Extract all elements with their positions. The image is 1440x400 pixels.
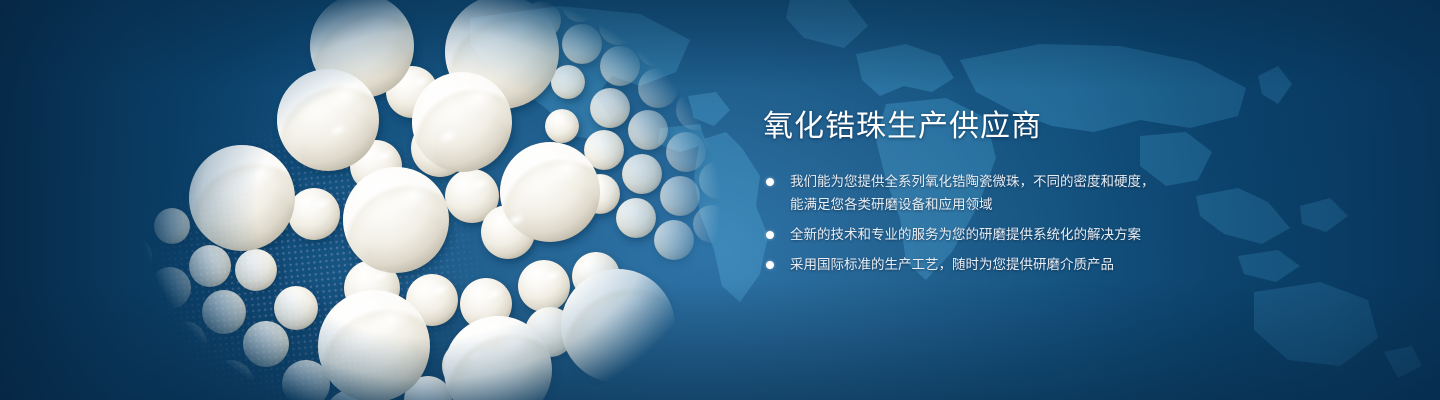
list-item: 全新的技术和专业的服务为您的研磨提供系统化的解决方案	[766, 223, 1283, 246]
banner-copy: 氧化锆珠生产供应商 我们能为您提供全系列氧化锆陶瓷微珠，不同的密度和硬度， 能满…	[763, 108, 1283, 276]
bullet-dot-icon	[766, 261, 774, 269]
hero-banner: 氧化锆珠生产供应商 我们能为您提供全系列氧化锆陶瓷微珠，不同的密度和硬度， 能满…	[0, 0, 1440, 400]
list-item-line: 全新的技术和专业的服务为您的研磨提供系统化的解决方案	[790, 223, 1283, 246]
zirconia-beads-image	[110, 0, 750, 400]
list-item-line: 能满足您各类研磨设备和应用领域	[790, 193, 1283, 216]
list-item-line: 我们能为您提供全系列氧化锆陶瓷微珠，不同的密度和硬度，	[790, 170, 1283, 193]
list-item-line: 采用国际标准的生产工艺，随时为您提供研磨介质产品	[790, 253, 1283, 276]
feature-list: 我们能为您提供全系列氧化锆陶瓷微珠，不同的密度和硬度， 能满足您各类研磨设备和应…	[766, 170, 1283, 276]
bullet-dot-icon	[766, 231, 774, 239]
list-item: 我们能为您提供全系列氧化锆陶瓷微珠，不同的密度和硬度， 能满足您各类研磨设备和应…	[766, 170, 1283, 216]
page-title: 氧化锆珠生产供应商	[763, 108, 1283, 146]
list-item: 采用国际标准的生产工艺，随时为您提供研磨介质产品	[766, 253, 1283, 276]
bullet-dot-icon	[766, 178, 774, 186]
